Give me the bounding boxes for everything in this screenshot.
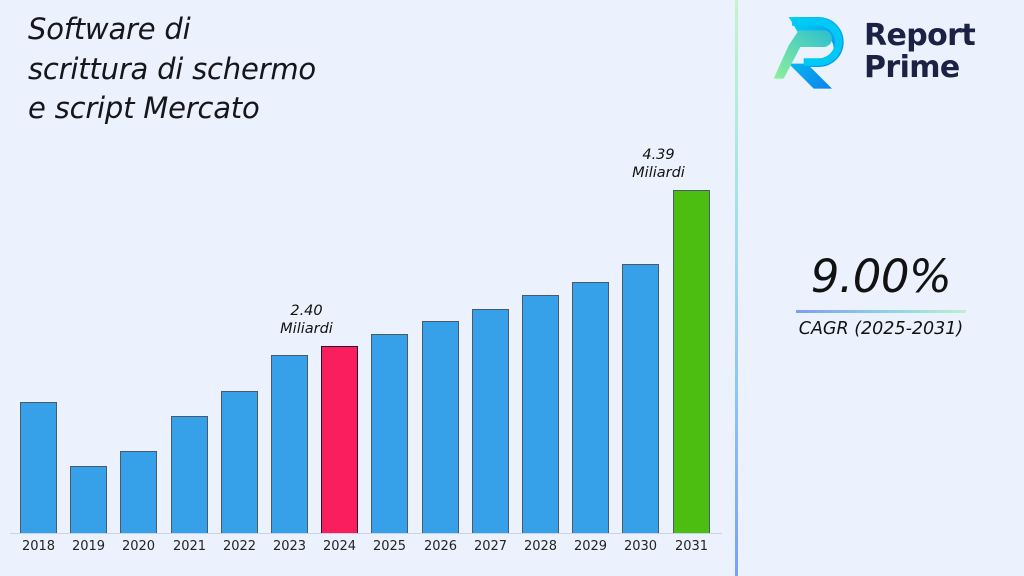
bar-chart: 20182019202020212022202320242.40 Miliard… (0, 0, 736, 576)
x-axis-line (10, 533, 722, 534)
bar-2028 (522, 295, 559, 533)
x-axis-label-2021: 2021 (164, 539, 215, 554)
bar-2030 (622, 264, 659, 533)
bar-2019 (70, 466, 107, 533)
right-panel: Report Prime 9.00% CAGR (2025-2031) (738, 0, 1024, 576)
cagr-label: CAGR (2025-2031) (738, 319, 1024, 339)
bar-value-label-2031: 4.39 Miliardi (607, 147, 710, 182)
brand-logo: Report Prime (770, 12, 975, 92)
brand-name-line1: Report (864, 18, 975, 53)
x-axis-label-2027: 2027 (465, 539, 516, 554)
x-axis-label-2028: 2028 (515, 539, 566, 554)
bar-2026 (422, 321, 459, 533)
x-axis-label-2030: 2030 (615, 539, 666, 554)
x-axis-label-2019: 2019 (63, 539, 114, 554)
bar-2024 (321, 346, 358, 533)
cagr-divider-rule (796, 310, 966, 313)
chart-infographic: Software di scrittura di schermo e scrip… (0, 0, 1024, 576)
x-axis-label-2025: 2025 (364, 539, 415, 554)
bar-2023 (271, 355, 308, 533)
x-axis-label-2026: 2026 (415, 539, 466, 554)
bar-2029 (572, 282, 609, 533)
cagr-value: 9.00% (738, 250, 1024, 303)
bar-2021 (171, 416, 208, 533)
x-axis-label-2023: 2023 (264, 539, 315, 554)
x-axis-label-2018: 2018 (13, 539, 64, 554)
brand-name: Report Prime (864, 20, 975, 84)
bar-2027 (472, 309, 509, 533)
bar-2020 (120, 451, 157, 533)
x-axis-label-2031: 2031 (666, 539, 717, 554)
x-axis-label-2029: 2029 (565, 539, 616, 554)
bar-value-label-2024: 2.40 Miliardi (255, 303, 358, 338)
left-panel: Software di scrittura di schermo e scrip… (0, 0, 736, 576)
brand-name-line2: Prime (864, 50, 960, 85)
x-axis-label-2024: 2024 (314, 539, 365, 554)
bar-2018 (20, 402, 57, 533)
x-axis-label-2020: 2020 (113, 539, 164, 554)
bar-2025 (371, 334, 408, 533)
x-axis-label-2022: 2022 (214, 539, 265, 554)
report-prime-logo-icon (770, 12, 854, 92)
bar-2022 (221, 391, 258, 533)
bar-2031 (673, 190, 710, 533)
cagr-block: 9.00% CAGR (2025-2031) (738, 250, 1024, 339)
